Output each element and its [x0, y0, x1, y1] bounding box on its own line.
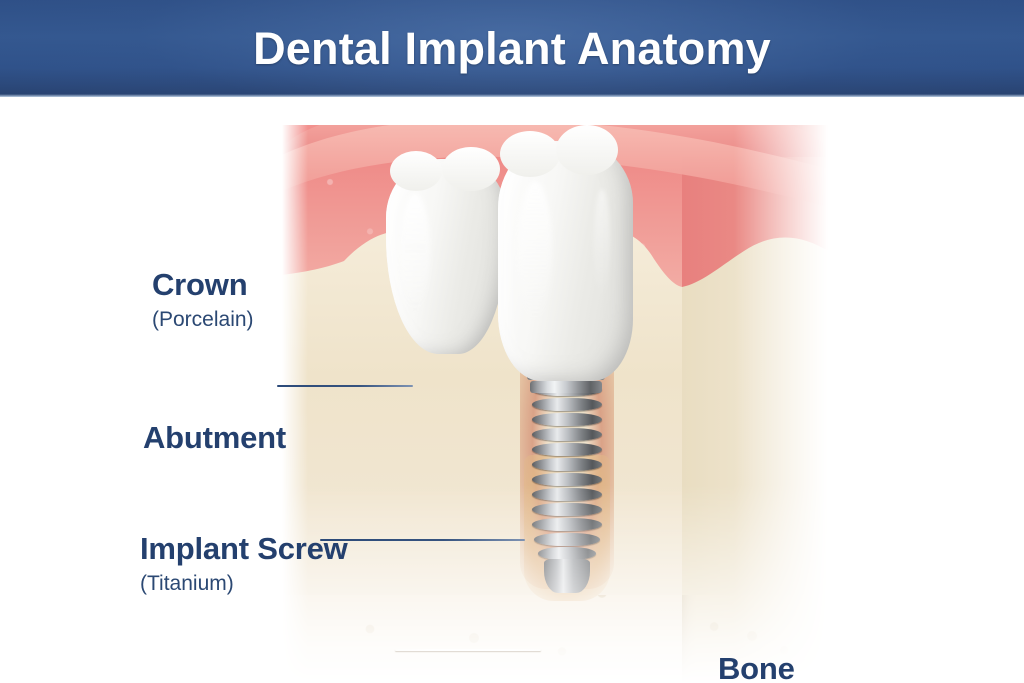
leader-line-implant-screw: [395, 649, 541, 651]
leader-line-abutment: [320, 539, 525, 541]
leader-line-crown: [277, 385, 413, 387]
dental-implant-anatomy-diagram: Dental Implant Anatomy: [0, 0, 1024, 683]
screw-thread: [532, 488, 602, 501]
label-crown: Crown (Porcelain): [152, 269, 254, 330]
screw-thread: [532, 443, 602, 456]
implant-screw: [532, 383, 602, 573]
crown-implant-restoration: [498, 141, 633, 381]
label-bone: Bone: [718, 653, 795, 683]
crown-highlight: [400, 193, 430, 313]
tissue-block: [282, 125, 828, 683]
label-implant-screw-title: Implant Screw: [140, 533, 348, 564]
label-implant-screw: Implant Screw (Titanium): [140, 533, 348, 594]
label-crown-title: Crown: [152, 269, 254, 300]
label-bone-title: Bone: [718, 653, 795, 683]
crown-cusp: [390, 151, 442, 191]
abutment-band: [530, 381, 602, 393]
label-abutment-title: Abutment: [143, 422, 286, 453]
screw-thread: [532, 398, 602, 411]
crown-natural-tooth: [386, 159, 506, 354]
bone-crest-side: [682, 237, 828, 595]
label-crown-material: (Porcelain): [152, 309, 254, 330]
screw-thread: [532, 503, 602, 516]
screw-thread: [532, 458, 602, 471]
screw-thread: [532, 428, 602, 441]
crown-cusp: [556, 125, 618, 175]
screw-thread: [532, 413, 602, 426]
label-implant-screw-material: (Titanium): [140, 573, 348, 594]
page-title: Dental Implant Anatomy: [0, 0, 1024, 97]
crown-cusp: [500, 131, 560, 177]
screw-thread: [532, 518, 602, 531]
screw-tip: [544, 559, 590, 593]
crown-highlight: [594, 189, 610, 299]
anatomy-illustration: Crown (Porcelain) Abutment Implant Screw…: [0, 97, 1024, 683]
crown-highlight: [518, 181, 552, 321]
crown-cusp: [442, 147, 500, 191]
label-abutment: Abutment: [143, 422, 286, 453]
screw-thread: [532, 473, 602, 486]
title-bar: Dental Implant Anatomy: [0, 0, 1024, 97]
screw-thread: [534, 533, 600, 546]
